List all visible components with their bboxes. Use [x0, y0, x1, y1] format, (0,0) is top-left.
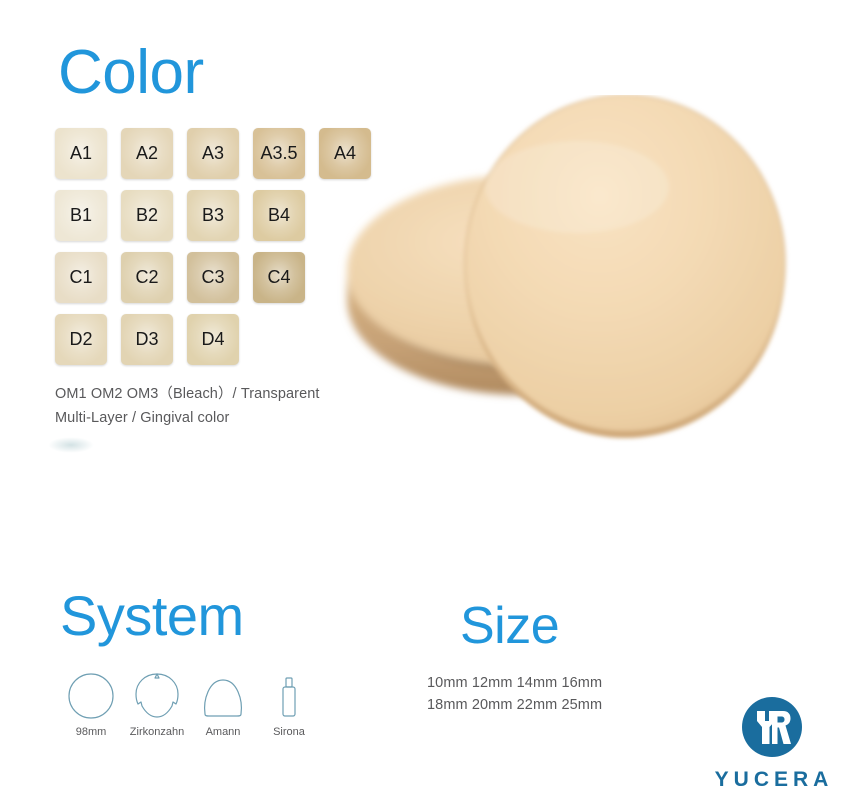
disc-photo-svg: [325, 95, 795, 450]
color-swatch-b2[interactable]: B2: [121, 190, 173, 241]
color-swatch-label: C4: [267, 267, 290, 288]
system-item-98mm: 98mm: [58, 668, 124, 738]
color-swatch-a3-5[interactable]: A3.5: [253, 128, 305, 179]
color-swatch-label: B1: [70, 205, 92, 226]
color-swatch-a3[interactable]: A3: [187, 128, 239, 179]
color-swatch-c1[interactable]: C1: [55, 252, 107, 303]
color-swatch-label: A3.5: [260, 143, 297, 164]
zirconia-disc-photo: [325, 95, 795, 450]
size-section-heading: Size: [460, 600, 559, 652]
color-swatch-label: B3: [202, 205, 224, 226]
color-swatch-b1[interactable]: B1: [55, 190, 107, 241]
yucera-monogram-icon: [741, 696, 803, 763]
color-swatch-d4[interactable]: D4: [187, 314, 239, 365]
system-item-zirkonzahn: Zirkonzahn: [124, 668, 190, 738]
color-swatch-c2[interactable]: C2: [121, 252, 173, 303]
system-item-label: Sirona: [273, 726, 305, 738]
color-swatch-label: C2: [135, 267, 158, 288]
color-note-line: Multi-Layer / Gingival color: [55, 407, 320, 431]
color-swatch-a2[interactable]: A2: [121, 128, 173, 179]
system-item-label: 98mm: [76, 726, 107, 738]
color-note-line: OM1 OM2 OM3（Bleach）/ Transparent: [55, 383, 320, 407]
brand-logo: YUCERA: [700, 696, 843, 792]
color-swatch-label: B2: [136, 205, 158, 226]
system-icon-list: 98mm Zirkonzahn Amann: [58, 668, 322, 738]
color-swatch-label: A1: [70, 143, 92, 164]
disc-circle-icon: [66, 668, 116, 720]
color-section-heading: Color: [58, 42, 204, 104]
color-swatch-c4[interactable]: C4: [253, 252, 305, 303]
disc-dome-icon: [198, 668, 248, 720]
brand-wordmark: YUCERA: [710, 768, 834, 792]
front-disc: [465, 95, 785, 438]
color-swatch-label: C1: [69, 267, 92, 288]
color-swatch-label: B4: [268, 205, 290, 226]
color-swatch-b4[interactable]: B4: [253, 190, 305, 241]
color-swatch-label: C3: [201, 267, 224, 288]
system-section-heading: System: [60, 588, 244, 644]
product-spec-page: Color A1A2A3A3.5A4B1B2B3B4C1C2C3C4D2D3D4…: [0, 0, 843, 800]
color-swatch-d3[interactable]: D3: [121, 314, 173, 365]
color-swatch-label: D2: [69, 329, 92, 350]
block-sirona-icon: [264, 668, 314, 720]
system-item-amann: Amann: [190, 668, 256, 738]
color-swatch-c3[interactable]: C3: [187, 252, 239, 303]
disc-notched-icon: [132, 668, 182, 720]
color-notes: OM1 OM2 OM3（Bleach）/ Transparent Multi-L…: [55, 383, 320, 431]
color-swatch-label: D4: [201, 329, 224, 350]
color-swatch-a1[interactable]: A1: [55, 128, 107, 179]
color-swatch-label: A4: [334, 143, 356, 164]
size-values-line: 10mm 12mm 14mm 16mm: [427, 673, 602, 695]
color-swatch-label: D3: [135, 329, 158, 350]
color-swatch-d2[interactable]: D2: [55, 314, 107, 365]
color-swatch-b3[interactable]: B3: [187, 190, 239, 241]
size-values-line: 18mm 20mm 22mm 25mm: [427, 695, 602, 717]
color-swatch-label: A2: [136, 143, 158, 164]
color-swatch-label: A3: [202, 143, 224, 164]
size-values: 10mm 12mm 14mm 16mm 18mm 20mm 22mm 25mm: [427, 673, 602, 717]
system-item-label: Zirkonzahn: [130, 726, 184, 738]
background-artifact: [48, 437, 94, 453]
system-item-label: Amann: [206, 726, 241, 738]
system-item-sirona: Sirona: [256, 668, 322, 738]
